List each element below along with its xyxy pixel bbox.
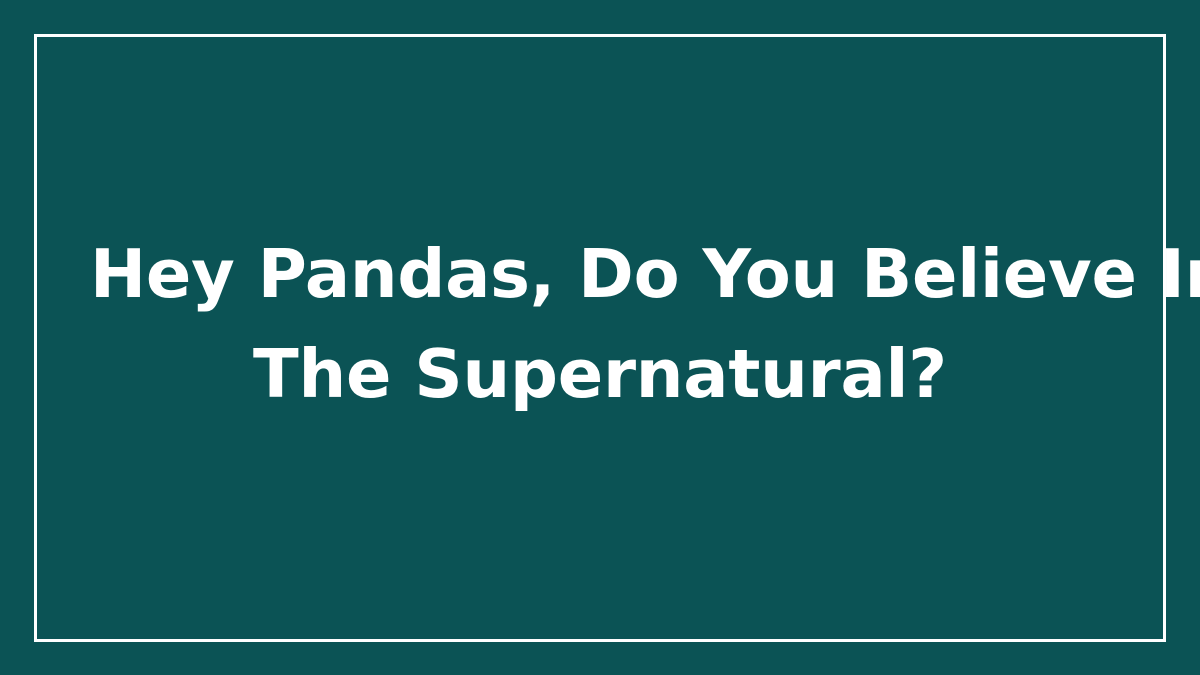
decorative-border-frame [34,34,1166,642]
poster-canvas: Hey Pandas, Do You Believe In The Supern… [0,0,1200,675]
